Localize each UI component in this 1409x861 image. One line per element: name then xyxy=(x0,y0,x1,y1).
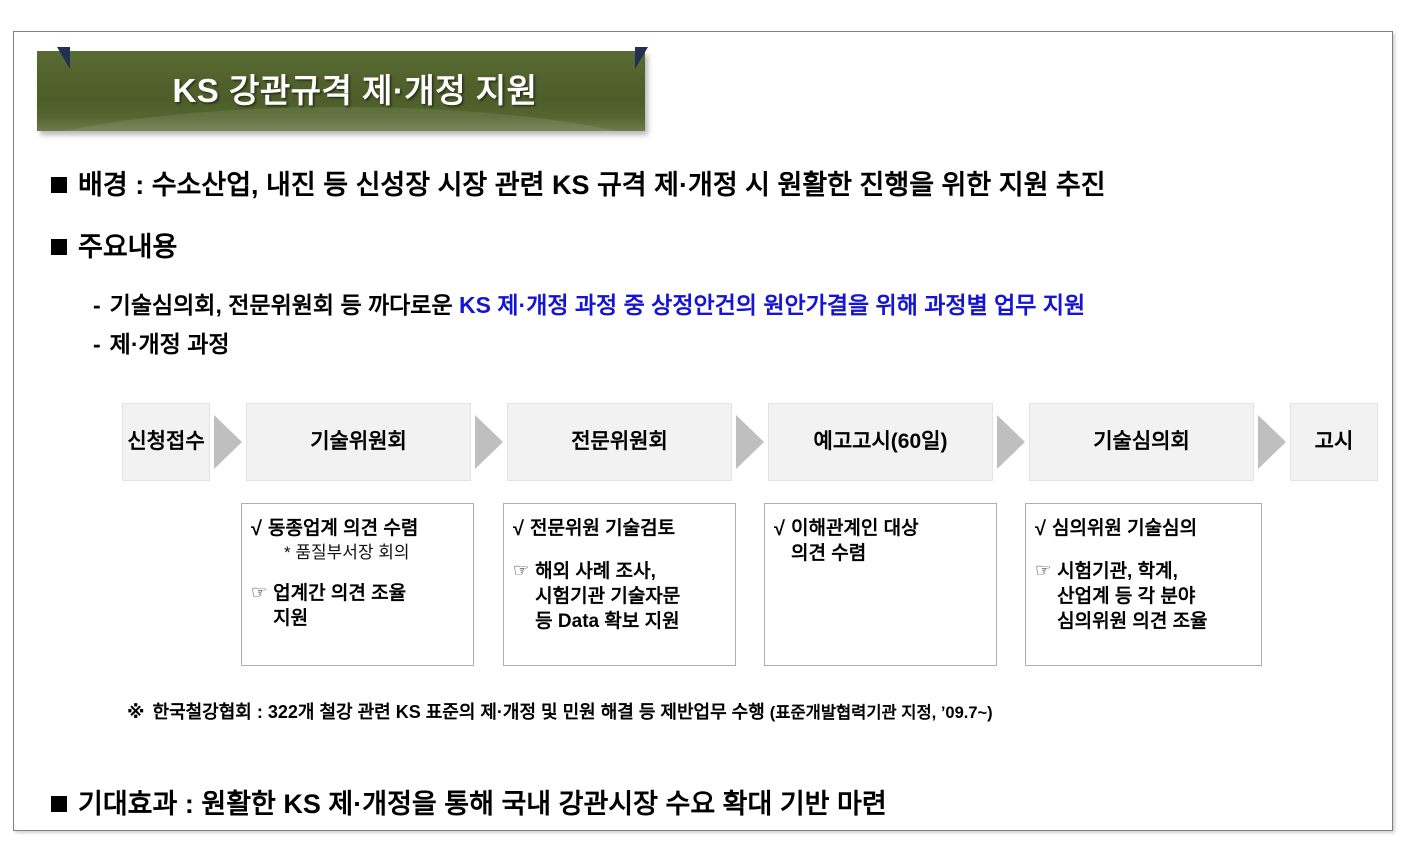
expected-effect-section: 기대효과 : 원활한 KS 제·개정을 통해 국내 강관시장 수요 확대 기반 … xyxy=(51,782,887,821)
reference-mark-icon: ※ xyxy=(127,702,145,722)
detail-note: * 품질부서장 회의 xyxy=(284,542,467,565)
dash-marker: - xyxy=(93,331,101,357)
detail-line: 이해관계인 대상 xyxy=(791,516,990,541)
detail-line: 산업계 등 각 분야 xyxy=(1057,584,1255,609)
detail-line: 시험기관 기술자문 xyxy=(535,584,729,609)
detail-row-text: 업계간 의견 조율지원 xyxy=(273,581,467,632)
detail-row-text: 해외 사례 조사,시험기관 기술자문등 Data 확보 지원 xyxy=(535,559,729,635)
flow-step-label: 접수 xyxy=(166,429,205,455)
detail-box-1: √동종업계 의견 수렴* 품질부서장 회의☞업계간 의견 조율지원 xyxy=(241,503,474,666)
banner-corner-accent-right xyxy=(635,47,648,69)
effect-text: 원활한 KS 제·개정을 통해 국내 강관시장 수요 확대 기반 마련 xyxy=(201,789,886,819)
item-1-highlight-text: KS 제·개정 과정 중 상정안건의 원안가결을 위해 과정별 업무 지원 xyxy=(459,292,1085,318)
title-banner-background: KS 강관규격 제·개정 지원 xyxy=(37,51,645,131)
main-content-item-1: -기술심의회, 전문위원회 등 까다로운 KS 제·개정 과정 중 상정안건의 … xyxy=(93,286,1085,320)
detail-row-text: 심의위원 기술심의 xyxy=(1052,516,1255,541)
page-title: KS 강관규격 제·개정 지원 xyxy=(37,64,645,112)
right-triangle-arrow-icon xyxy=(732,403,768,481)
banner-corner-accent-left xyxy=(57,47,70,69)
flow-step-label: 예고고시 xyxy=(814,429,891,455)
slide-canvas: KS 강관규격 제·개정 지원 배경 : 수소산업, 내진 등 신성장 시장 관… xyxy=(13,31,1393,831)
detail-row-text: 동종업계 의견 수렴* 품질부서장 회의 xyxy=(268,516,467,565)
detail-line: 등 Data 확보 지원 xyxy=(535,609,729,634)
detail-line: 심의위원 의견 조율 xyxy=(1057,609,1255,634)
main-content-heading: 주요내용 xyxy=(51,225,177,264)
background-text: 수소산업, 내진 등 신성장 시장 관련 KS 규격 제·개정 시 원활한 진행… xyxy=(152,170,1106,200)
right-triangle-arrow-icon xyxy=(1254,403,1290,481)
flow-step-label: 기술위원회 xyxy=(310,429,407,455)
flow-step-label: 기술심의회 xyxy=(1093,429,1190,455)
detail-line: 동종업계 의견 수렴 xyxy=(268,516,467,541)
detail-line: 해외 사례 조사, xyxy=(535,559,729,584)
main-content-label: 주요내용 xyxy=(78,232,177,262)
detail-row: √심의위원 기술심의 xyxy=(1035,516,1255,543)
detail-row: √전문위원 기술검토 xyxy=(513,516,729,543)
effect-label: 기대효과 xyxy=(78,789,177,819)
main-content-item-2: -제·개정 과정 xyxy=(93,325,230,359)
detail-line: 지원 xyxy=(273,606,467,631)
footnote: ※한국철강협회 : 322개 철강 관련 KS 표준의 제·개정 및 민원 해결… xyxy=(127,698,993,724)
background-section: 배경 : 수소산업, 내진 등 신성장 시장 관련 KS 규격 제·개정 시 원… xyxy=(51,163,1106,202)
effect-separator: : xyxy=(177,789,201,819)
detail-box-2: √전문위원 기술검토☞해외 사례 조사,시험기관 기술자문등 Data 확보 지… xyxy=(503,503,736,666)
detail-row-text: 전문위원 기술검토 xyxy=(530,516,729,541)
right-triangle-arrow-icon xyxy=(210,403,246,481)
detail-row: ☞해외 사례 조사,시험기관 기술자문등 Data 확보 지원 xyxy=(513,559,729,635)
footnote-tail: (표준개발협력기관 지정, ’09.7~) xyxy=(770,704,993,722)
detail-line: 의견 수렴 xyxy=(791,541,990,566)
flow-step-6[interactable]: 고시 xyxy=(1290,403,1378,481)
flow-step-3[interactable]: 전문위원회 xyxy=(507,403,732,481)
flow-step-2[interactable]: 기술위원회 xyxy=(246,403,471,481)
check-mark-icon: √ xyxy=(251,516,262,543)
pointing-hand-icon: ☞ xyxy=(1035,559,1051,583)
flow-step-4[interactable]: 예고고시(60일) xyxy=(768,403,993,481)
check-mark-icon: √ xyxy=(513,516,524,543)
detail-box-3: √이해관계인 대상의견 수렴 xyxy=(764,503,997,666)
flow-step-label: 고시 xyxy=(1315,429,1354,455)
item-1-plain-text: 기술심의회, 전문위원회 등 까다로운 xyxy=(110,292,459,318)
right-triangle-arrow-icon xyxy=(993,403,1029,481)
background-label: 배경 xyxy=(78,170,128,200)
check-mark-icon: √ xyxy=(774,516,785,543)
pointing-hand-icon: ☞ xyxy=(513,559,529,583)
flow-step-label: (60일) xyxy=(891,429,948,455)
item-2-plain-text: 제·개정 과정 xyxy=(110,331,230,357)
process-flow-diagram: 신청접수기술위원회전문위원회예고고시(60일)기술심의회고시 xyxy=(122,403,1378,481)
detail-box-4: √심의위원 기술심의☞시험기관, 학계,산업계 등 각 분야심의위원 의견 조율 xyxy=(1025,503,1262,666)
detail-line: 업계간 의견 조율 xyxy=(273,581,467,606)
background-separator: : xyxy=(128,170,152,200)
detail-row: ☞시험기관, 학계,산업계 등 각 분야심의위원 의견 조율 xyxy=(1035,559,1255,635)
detail-row-text: 시험기관, 학계,산업계 등 각 분야심의위원 의견 조율 xyxy=(1057,559,1255,635)
filled-square-bullet-icon xyxy=(51,239,67,255)
check-mark-icon: √ xyxy=(1035,516,1046,543)
detail-line: 시험기관, 학계, xyxy=(1057,559,1255,584)
pointing-hand-icon: ☞ xyxy=(251,581,267,605)
detail-row-spacer xyxy=(251,567,467,581)
right-triangle-arrow-icon xyxy=(471,403,507,481)
detail-row-spacer xyxy=(513,545,729,559)
detail-line: 전문위원 기술검토 xyxy=(530,516,729,541)
title-banner: KS 강관규격 제·개정 지원 xyxy=(37,51,645,131)
detail-row: √이해관계인 대상의견 수렴 xyxy=(774,516,990,567)
filled-square-bullet-icon xyxy=(51,177,67,193)
flow-step-1[interactable]: 신청접수 xyxy=(122,403,210,481)
flow-step-label: 신청 xyxy=(127,429,166,455)
detail-row: √동종업계 의견 수렴* 품질부서장 회의 xyxy=(251,516,467,565)
detail-row-text: 이해관계인 대상의견 수렴 xyxy=(791,516,990,567)
detail-line: 심의위원 기술심의 xyxy=(1052,516,1255,541)
flow-step-5[interactable]: 기술심의회 xyxy=(1029,403,1254,481)
detail-row-spacer xyxy=(1035,545,1255,559)
footnote-text: 한국철강협회 : 322개 철강 관련 KS 표준의 제·개정 및 민원 해결 … xyxy=(153,702,770,722)
filled-square-bullet-icon xyxy=(51,796,67,812)
detail-row: ☞업계간 의견 조율지원 xyxy=(251,581,467,632)
flow-step-label: 전문위원회 xyxy=(571,429,668,455)
dash-marker: - xyxy=(93,292,101,318)
